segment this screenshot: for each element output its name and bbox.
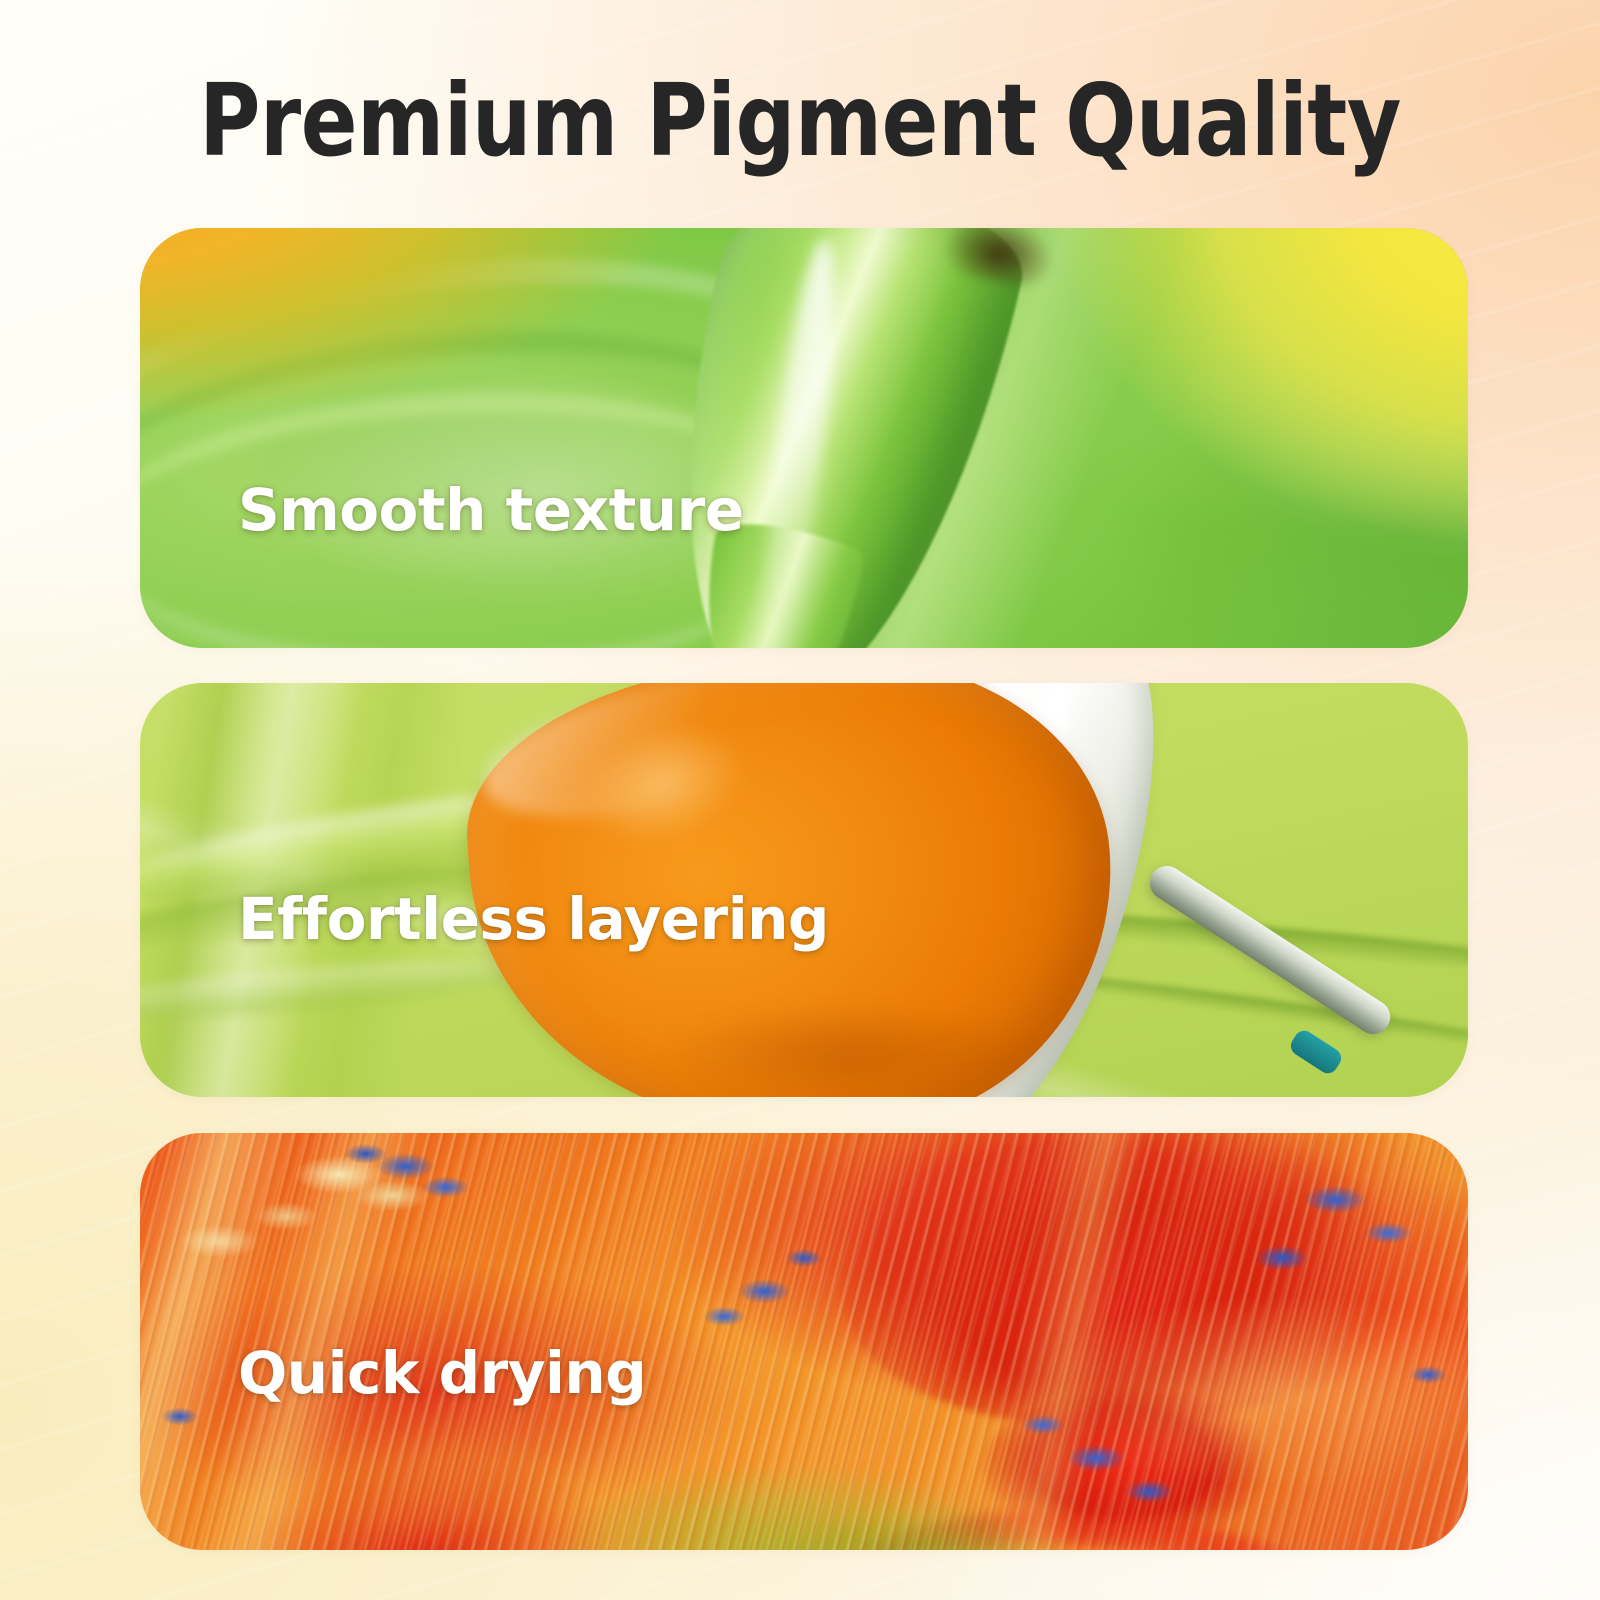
page-root: Premium Pigment Quality Smooth texture — [0, 0, 1600, 1600]
feature-card-quick-drying[interactable]: Quick drying — [140, 1133, 1468, 1550]
feature-card-smooth-texture[interactable]: Smooth texture — [140, 228, 1468, 648]
feature-card-effortless-layering[interactable]: Effortless layering — [140, 683, 1468, 1097]
page-title: Premium Pigment Quality — [56, 68, 1544, 173]
card-label-smooth-texture: Smooth texture — [238, 476, 744, 544]
card-artwork-pouring-green-paint — [140, 228, 1468, 648]
card-label-effortless-layering: Effortless layering — [238, 885, 829, 953]
card-label-quick-drying: Quick drying — [238, 1339, 646, 1407]
card-vignette — [140, 228, 1468, 648]
